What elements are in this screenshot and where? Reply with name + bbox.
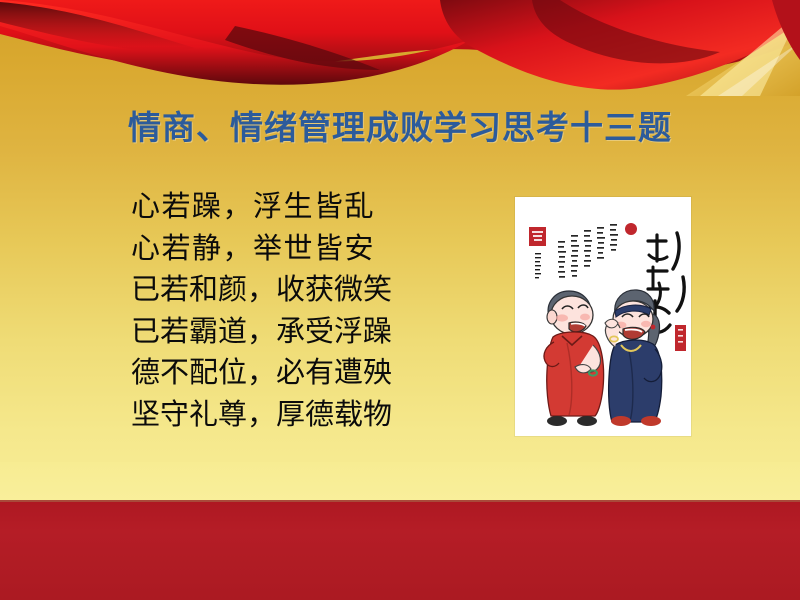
verse-line: 心若躁，浮生皆乱	[131, 186, 503, 228]
seal-stamp-side	[675, 325, 686, 351]
slide-canvas: 情商、情绪管理成败学习思考十三题 心若躁，浮生皆乱 心若静，举世皆安 已若和颜，…	[0, 0, 800, 600]
seal-stamp-round	[625, 223, 637, 235]
verse-line: 坚守礼尊，厚德载物	[131, 394, 503, 436]
satin-ribbon-graphic	[0, 0, 800, 96]
verse-line: 德不配位，必有遭殃	[131, 352, 503, 394]
artwork-image	[515, 197, 691, 436]
page-title: 情商、情绪管理成败学习思考十三题	[0, 101, 800, 149]
footer-red-band	[0, 502, 800, 600]
verse-line: 心若静，举世皆安	[131, 228, 503, 270]
top-red-satin-banner	[0, 0, 800, 96]
seal-stamp-top	[529, 227, 546, 246]
footer-yellow-band	[0, 462, 800, 502]
verse-line: 已若和颜，收获微笑	[131, 269, 503, 311]
ink-painting-graphic	[515, 197, 691, 436]
verse-line: 已若霸道，承受浮躁	[131, 311, 503, 353]
verse-text-block: 心若躁，浮生皆乱 心若静，举世皆安 已若和颜，收获微笑 已若霸道，承受浮躁 德不…	[131, 186, 503, 435]
